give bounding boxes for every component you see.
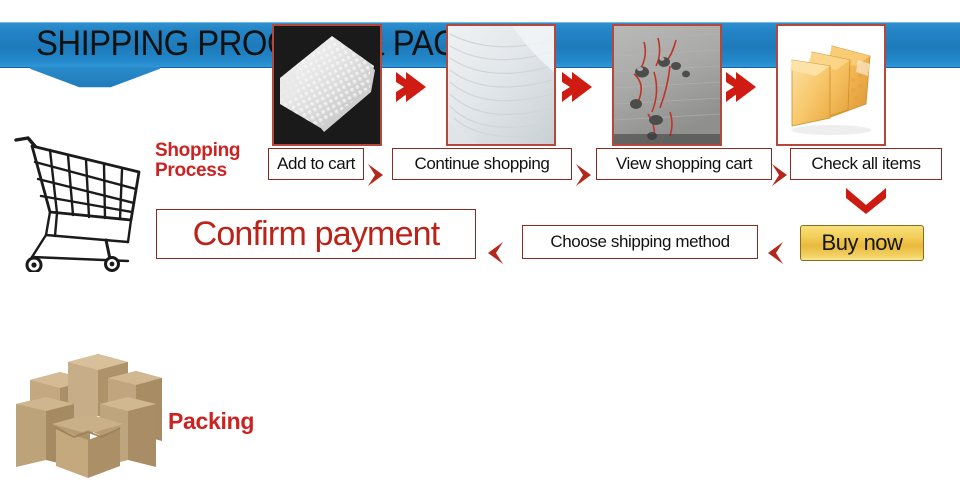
process-label: Shopping Process [155,141,270,181]
arrow-notch [368,164,375,186]
arrow-notch [576,164,583,186]
arrow-right-icon-2 [576,164,591,186]
arrow-right-icon-3 [772,164,787,186]
step-check-all-items[interactable]: Check all items [790,148,942,180]
step-confirm-payment[interactable]: Confirm payment [156,209,476,259]
foam-wrap-image [448,26,554,144]
banner-ribbon-tail [30,67,160,89]
step-view-shopping-cart[interactable]: View shopping cart [596,148,772,180]
step-choose-shipping-method[interactable]: Choose shipping method [522,225,758,259]
cardboard-boxes-icon [12,342,164,482]
bubble-wrap-roll-photo [272,24,382,146]
arrow-right-icon-1 [368,164,383,186]
packing-section: Packing [0,330,960,502]
arrow-right-icon-packing-3 [722,72,758,102]
process-label-line1: Shopping [155,141,270,161]
bubble-wrap-image [274,26,380,144]
arrow-left-icon-1 [768,242,783,264]
arrow-left-icon-2 [488,242,503,264]
padded-envelopes-image [778,26,884,144]
padded-envelopes-photo [776,24,886,146]
wrapped-items-photo [612,24,722,146]
packing-label: Packing [168,408,278,435]
arrow-notch [772,164,779,186]
arrow-notch [776,242,783,264]
process-label-line2: Process [155,161,270,181]
arrow-down-icon [846,188,886,214]
arrow-right-icon-packing-2 [558,72,594,102]
buy-now-button[interactable]: Buy now [800,225,924,261]
shopping-cart-icon [10,132,145,272]
step-add-to-cart[interactable]: Add to cart [268,148,364,180]
foam-wrap-sheet-photo [446,24,556,146]
arrow-notch [496,242,503,264]
wrapped-items-image [614,26,720,144]
arrow-right-icon-packing-1 [392,72,428,102]
step-continue-shopping[interactable]: Continue shopping [392,148,572,180]
